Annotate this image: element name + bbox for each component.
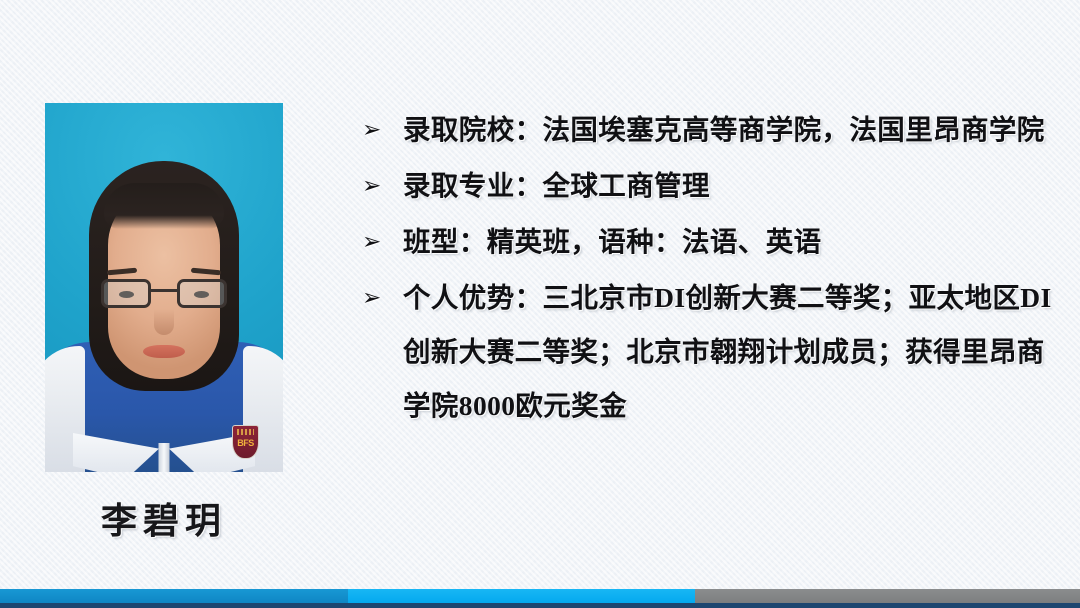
arrow-bullet-icon: ➢ (362, 215, 403, 269)
bottom-decorative-bar (0, 589, 1080, 608)
eyeglass-bridge (151, 289, 177, 292)
list-item: ➢ 录取院校：法国埃塞克高等商学院，法国里昂商学院 (362, 103, 1062, 157)
student-name: 李碧玥 (45, 492, 283, 544)
arrow-bullet-icon: ➢ (362, 103, 403, 157)
uniform-zipper (159, 443, 170, 472)
bar-segment-blue (0, 589, 348, 603)
student-photo-block: BFS (45, 103, 283, 472)
arrow-bullet-icon: ➢ (362, 159, 403, 213)
bar-segments (0, 589, 1080, 603)
eyeglasses-icon (101, 279, 227, 309)
presentation-slide: BFS 李碧玥 ➢ 录取院校：法国埃塞克高等商学院，法国里昂商学院 ➢ 录取专业… (0, 0, 1080, 608)
list-item-text: 班型：精英班，语种：法语、英语 (403, 215, 1062, 269)
nose (154, 309, 174, 335)
bar-segment-gray (695, 589, 1080, 603)
student-id-photo: BFS (45, 103, 283, 472)
list-item-text: 录取院校：法国埃塞克高等商学院，法国里昂商学院 (403, 103, 1062, 157)
bar-segment-cyan (348, 589, 695, 603)
school-badge-icon: BFS (232, 425, 259, 459)
list-item: ➢ 班型：精英班，语种：法语、英语 (362, 215, 1062, 269)
eyeglass-lens-left (101, 279, 151, 308)
arrow-bullet-icon: ➢ (362, 271, 403, 325)
list-item-text: 个人优势：三北京市DI创新大赛二等奖；亚太地区DI创新大赛二等奖；北京市翱翔计划… (403, 271, 1062, 433)
mouth (143, 345, 185, 358)
eyeglass-lens-right (177, 279, 227, 308)
bullet-list: ➢ 录取院校：法国埃塞克高等商学院，法国里昂商学院 ➢ 录取专业：全球工商管理 … (362, 103, 1062, 435)
list-item: ➢ 录取专业：全球工商管理 (362, 159, 1062, 213)
bar-navy-strip (0, 603, 1080, 608)
list-item-text: 录取专业：全球工商管理 (403, 159, 1062, 213)
school-badge-text: BFS (233, 439, 258, 448)
list-item: ➢ 个人优势：三北京市DI创新大赛二等奖；亚太地区DI创新大赛二等奖；北京市翱翔… (362, 271, 1062, 433)
hair-fringe (104, 183, 224, 229)
